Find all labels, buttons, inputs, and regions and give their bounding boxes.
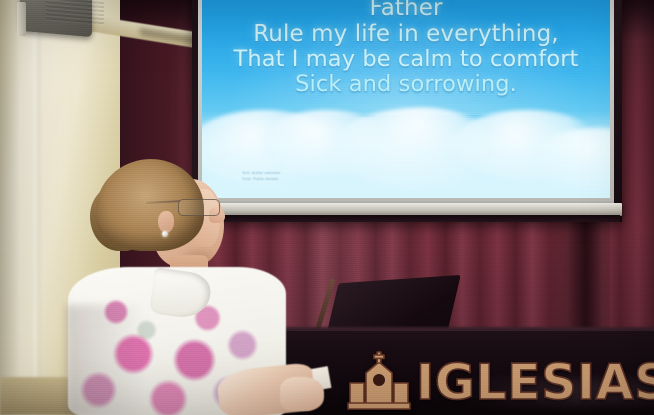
lyric-line-3: Rule my life in everything, xyxy=(202,23,610,46)
wall-left-shadow xyxy=(0,0,20,415)
lyrics-block: my heavenly Father Rule my life in every… xyxy=(202,0,610,96)
lyric-line-4: That I may be calm to comfort xyxy=(202,48,610,71)
hand xyxy=(280,377,324,411)
shoulder-shadow xyxy=(66,305,146,415)
wall-speaker xyxy=(20,0,92,37)
church-icon xyxy=(346,351,412,413)
speaker-at-lectern xyxy=(66,155,296,415)
ear xyxy=(158,211,174,233)
watermark-text: IGLESIAS xyxy=(416,358,654,407)
watermark-logo: IGLESIAS xyxy=(346,347,654,415)
screenshot-stage: my heavenly Father Rule my life in every… xyxy=(0,0,654,415)
wall-corner-edge xyxy=(34,0,40,415)
speaker-bracket xyxy=(17,2,26,36)
lyric-line-2: Father xyxy=(202,0,610,21)
speaker-grill xyxy=(46,0,104,26)
earring xyxy=(162,231,168,237)
glasses-lens xyxy=(178,199,220,216)
lyric-line-5: Sick and sorrowing. xyxy=(202,73,610,96)
